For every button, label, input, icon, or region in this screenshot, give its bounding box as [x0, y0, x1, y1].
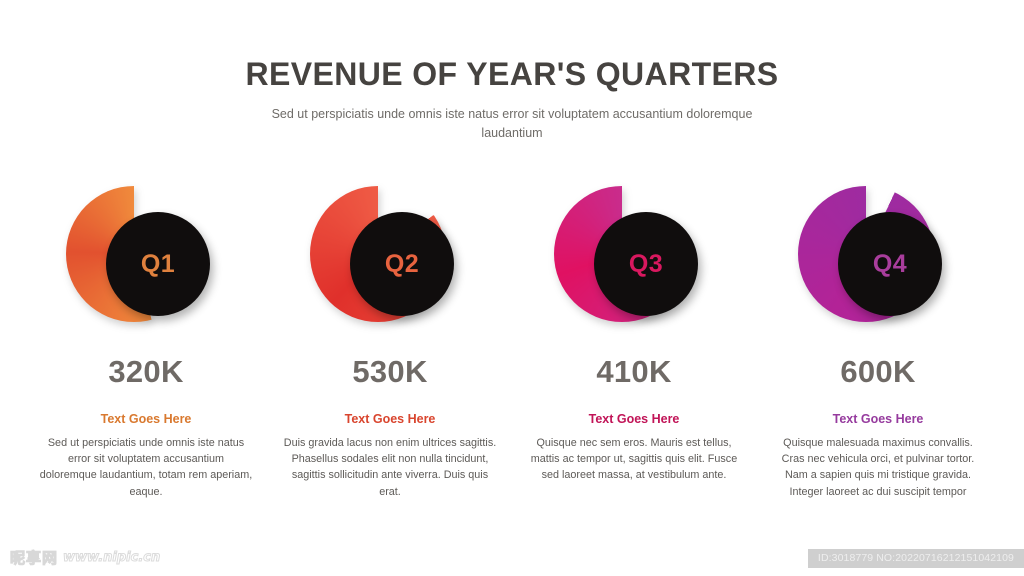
quarter-body-q1: Sed ut perspiciatis unde omnis iste natu…	[39, 435, 254, 501]
quarter-body-q2: Duis gravida lacus non enim ultrices sag…	[283, 435, 498, 501]
quarter-caption-q4: Text Goes Here	[833, 413, 924, 426]
quarter-columns: Q1 320K Text Goes Here Sed ut perspiciat…	[0, 186, 1024, 500]
donut-chart-q1: Q1	[66, 186, 226, 336]
quarter-label-q1: Q1	[141, 252, 175, 277]
quarter-caption-q2: Text Goes Here	[345, 413, 436, 426]
quarter-value-q3: 410K	[596, 356, 671, 387]
donut-chart-q2: Q2	[310, 186, 470, 336]
image-id-badge: ID:3018779 NO:20220716212151042109	[808, 549, 1024, 568]
quarter-caption-q1: Text Goes Here	[101, 413, 192, 426]
quarter-column-q3: Q3 410K Text Goes Here Quisque nec sem e…	[516, 186, 752, 500]
donut-center-q2: Q2	[350, 212, 454, 316]
donut-center-q4: Q4	[838, 212, 942, 316]
page-title: REVENUE OF YEAR'S QUARTERS	[0, 56, 1024, 93]
quarter-value-q4: 600K	[840, 356, 915, 387]
donut-chart-q3: Q3	[554, 186, 714, 336]
site-logo: 昵享网	[10, 547, 58, 568]
quarter-value-q2: 530K	[352, 356, 427, 387]
site-url: www.nipic.cn	[63, 550, 160, 565]
quarter-body-q3: Quisque nec sem eros. Mauris est tellus,…	[527, 435, 742, 484]
quarter-body-q4: Quisque malesuada maximus convallis. Cra…	[771, 435, 986, 501]
quarter-value-q1: 320K	[108, 356, 183, 387]
watermark: 昵享网 www.nipic.cn	[10, 547, 160, 568]
quarter-column-q4: Q4 600K Text Goes Here Quisque malesuada…	[760, 186, 996, 500]
quarter-label-q2: Q2	[385, 252, 419, 277]
quarter-caption-q3: Text Goes Here	[589, 413, 680, 426]
quarter-label-q3: Q3	[629, 252, 663, 277]
donut-chart-q4: Q4	[798, 186, 958, 336]
donut-center-q3: Q3	[594, 212, 698, 316]
slide-canvas: REVENUE OF YEAR'S QUARTERS Sed ut perspi…	[0, 0, 1024, 576]
quarter-column-q1: Q1 320K Text Goes Here Sed ut perspiciat…	[28, 186, 264, 500]
slide-header: REVENUE OF YEAR'S QUARTERS Sed ut perspi…	[0, 56, 1024, 144]
page-subtitle: Sed ut perspiciatis unde omnis iste natu…	[247, 105, 777, 144]
quarter-label-q4: Q4	[873, 252, 907, 277]
quarter-column-q2: Q2 530K Text Goes Here Duis gravida lacu…	[272, 186, 508, 500]
donut-center-q1: Q1	[106, 212, 210, 316]
